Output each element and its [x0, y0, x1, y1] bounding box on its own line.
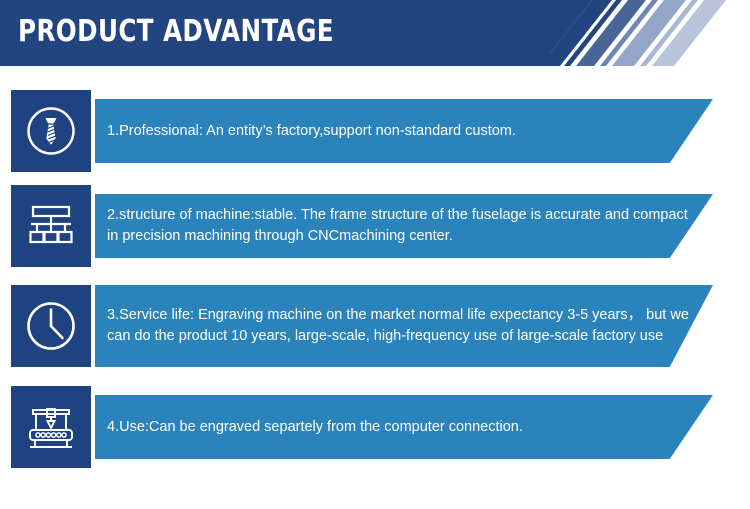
cnc-machine-icon [11, 386, 91, 468]
advantage-item-4: 4.Use:Can be engraved separtely from the… [0, 386, 750, 468]
clock-icon [11, 285, 91, 367]
advantage-list: 1.Professional: An entity’s factory,supp… [0, 66, 750, 509]
diagonal-stripes-icon [550, 0, 750, 66]
advantage-item-2: 2.structure of machine:stable. The frame… [0, 185, 750, 267]
advantage-banner-3: 3.Service life: Engraving machine on the… [95, 285, 713, 367]
advantage-text-1: 1.Professional: An entity’s factory,supp… [95, 121, 530, 142]
necktie-icon [11, 90, 91, 172]
advantage-text-4: 4.Use:Can be engraved separtely from the… [95, 417, 537, 438]
page-title: PRODUCT ADVANTAGE [18, 14, 334, 50]
product-advantage-page: PRODUCT ADVANTAGE [0, 0, 750, 509]
advantage-text-3: 3.Service life: Engraving machine on the… [95, 305, 713, 347]
advantage-banner-4: 4.Use:Can be engraved separtely from the… [95, 395, 713, 459]
structure-hierarchy-icon [11, 185, 91, 267]
page-header: PRODUCT ADVANTAGE [0, 0, 750, 66]
advantage-banner-1: 1.Professional: An entity’s factory,supp… [95, 99, 713, 163]
advantage-text-2: 2.structure of machine:stable. The frame… [95, 205, 713, 247]
advantage-item-1: 1.Professional: An entity’s factory,supp… [0, 90, 750, 172]
advantage-banner-2: 2.structure of machine:stable. The frame… [95, 194, 713, 258]
advantage-item-3: 3.Service life: Engraving machine on the… [0, 280, 750, 373]
